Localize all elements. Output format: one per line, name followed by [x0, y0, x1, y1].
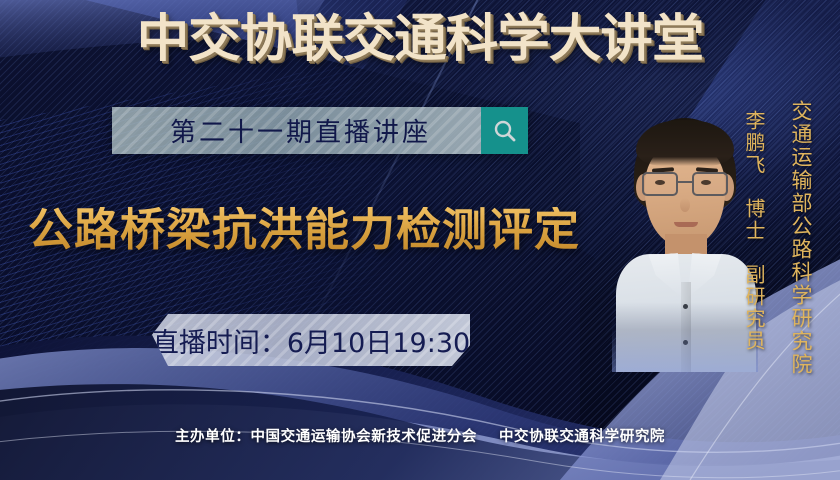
page-title: 中交协联交通科学大讲堂	[0, 14, 840, 65]
search-icon	[492, 118, 518, 144]
glasses-lens-right	[692, 172, 728, 196]
portrait-bottom-fade	[612, 302, 758, 372]
search-button[interactable]	[481, 107, 528, 154]
speaker-organization: 交通运输部公路科学研究院	[786, 100, 816, 376]
live-event-poster: 中交协联交通科学大讲堂 第二十一期直播讲座 公路桥梁抗洪能力检测评定 直播时间：…	[0, 0, 840, 480]
speaker-name-title: 李鹏飞 博士 副研究员	[740, 110, 769, 352]
broadcast-time-plate: 直播时间：6月10日19:30	[152, 314, 470, 366]
episode-label: 第二十一期直播讲座	[162, 112, 431, 149]
glasses-lens-left	[642, 172, 678, 196]
glasses-bridge	[678, 181, 692, 183]
portrait-mouth	[674, 222, 698, 227]
footer-org-1: 中国交通运输协会新技术促进分会	[250, 429, 477, 445]
portrait-fringe	[636, 120, 734, 166]
broadcast-time-text: 直播时间：6月10日19:30	[152, 321, 470, 360]
footer-org-2: 中交协联交通科学研究院	[499, 429, 665, 445]
speaker-portrait	[612, 112, 758, 372]
lecture-title: 公路桥梁抗洪能力检测评定	[28, 207, 580, 252]
portrait-nose	[680, 198, 690, 212]
footer-organizers: 主办单位：中国交通运输协会新技术促进分会中交协联交通科学研究院	[0, 425, 840, 446]
portrait-glasses	[642, 172, 728, 196]
footer-label: 主办单位：	[175, 429, 251, 445]
episode-banner-plate: 第二十一期直播讲座	[112, 107, 481, 154]
episode-banner: 第二十一期直播讲座	[112, 107, 528, 154]
